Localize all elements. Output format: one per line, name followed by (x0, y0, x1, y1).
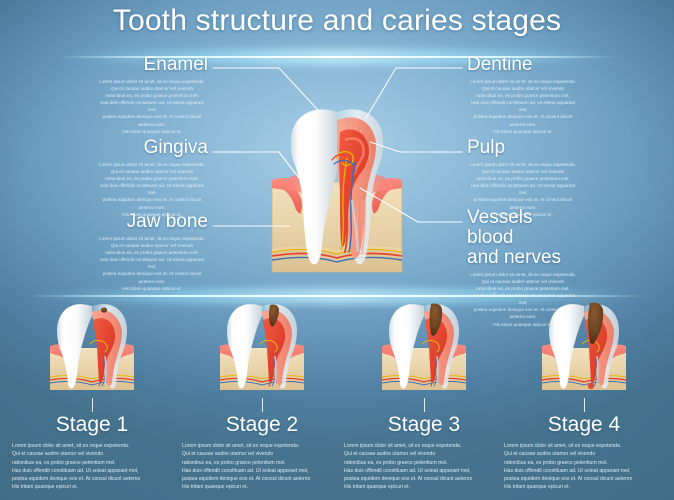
callout-body: Lorem ipsum dolor sit amet, sit ex reque… (467, 78, 579, 135)
caries-lesion (101, 307, 107, 312)
callout-title: Jaw bone (96, 212, 208, 232)
leader-pulp (370, 142, 462, 152)
stage-body: Lorem ipsum dolor sit amet, sit ex reque… (178, 442, 346, 492)
stage-card-4[interactable]: Stage 4 Lorem ipsum dolor sit amet, sit … (500, 288, 668, 492)
leader-dentine (366, 68, 462, 118)
callout-body: Lorem ipsum dolor sit amet, sit ex reque… (96, 235, 208, 292)
stage-connector-line (584, 398, 585, 412)
stage-card-1[interactable]: Stage 1 Lorem ipsum dolor sit amet, sit … (8, 288, 176, 492)
callout-enamel[interactable]: Enamel Lorem ipsum dolor sit amet, sit e… (96, 55, 208, 135)
stage-title: Stage 2 (178, 413, 346, 437)
callout-dentine[interactable]: Dentine Lorem ipsum dolor sit amet, sit … (467, 55, 579, 135)
stage-tooth-illustration (500, 288, 668, 398)
stage-tooth-4-icon (530, 290, 638, 398)
caries-stages-row: Stage 1 Lorem ipsum dolor sit amet, sit … (0, 288, 674, 500)
callout-jaw-bone[interactable]: Jaw bone Lorem ipsum dolor sit amet, sit… (96, 212, 208, 292)
callout-gingiva[interactable]: Gingiva Lorem ipsum dolor sit amet, sit … (96, 138, 208, 218)
callout-body: Lorem ipsum dolor sit amet, sit ex reque… (96, 78, 208, 135)
stage-tooth-illustration (178, 288, 346, 398)
stage-body: Lorem ipsum dolor sit amet, sit ex reque… (8, 442, 176, 492)
callout-pulp[interactable]: Pulp Lorem ipsum dolor sit amet, sit ex … (467, 138, 579, 218)
callout-title: Pulp (467, 138, 579, 158)
stage-title: Stage 1 (8, 413, 176, 437)
stage-title: Stage 4 (500, 413, 668, 437)
stage-connector-line (262, 398, 263, 412)
stage-tooth-illustration (8, 288, 176, 398)
stage-body: Lorem ipsum dolor sit amet, sit ex reque… (340, 442, 508, 492)
infographic-canvas: Tooth structure and caries stages (0, 0, 674, 500)
root-infection (588, 383, 594, 389)
leader-enamel (213, 68, 318, 110)
callout-title: Vessels blood and nerves (467, 208, 579, 268)
stage-tooth-illustration (340, 288, 508, 398)
stage-card-2[interactable]: Stage 2 Lorem ipsum dolor sit amet, sit … (178, 288, 346, 492)
stage-tooth-3-icon (370, 290, 478, 398)
callout-title: Dentine (467, 55, 579, 75)
stage-tooth-2-icon (208, 290, 316, 398)
stage-card-3[interactable]: Stage 3 Lorem ipsum dolor sit amet, sit … (340, 288, 508, 492)
callout-title: Enamel (96, 55, 208, 75)
callout-body: Lorem ipsum dolor sit amet, sit ex reque… (96, 161, 208, 218)
stage-connector-line (92, 398, 93, 412)
stage-tooth-1-icon (38, 290, 146, 398)
leader-gingiva (213, 152, 302, 182)
stage-title: Stage 3 (340, 413, 508, 437)
stage-body: Lorem ipsum dolor sit amet, sit ex reque… (500, 442, 668, 492)
callout-title: Gingiva (96, 138, 208, 158)
stage-connector-line (424, 398, 425, 412)
